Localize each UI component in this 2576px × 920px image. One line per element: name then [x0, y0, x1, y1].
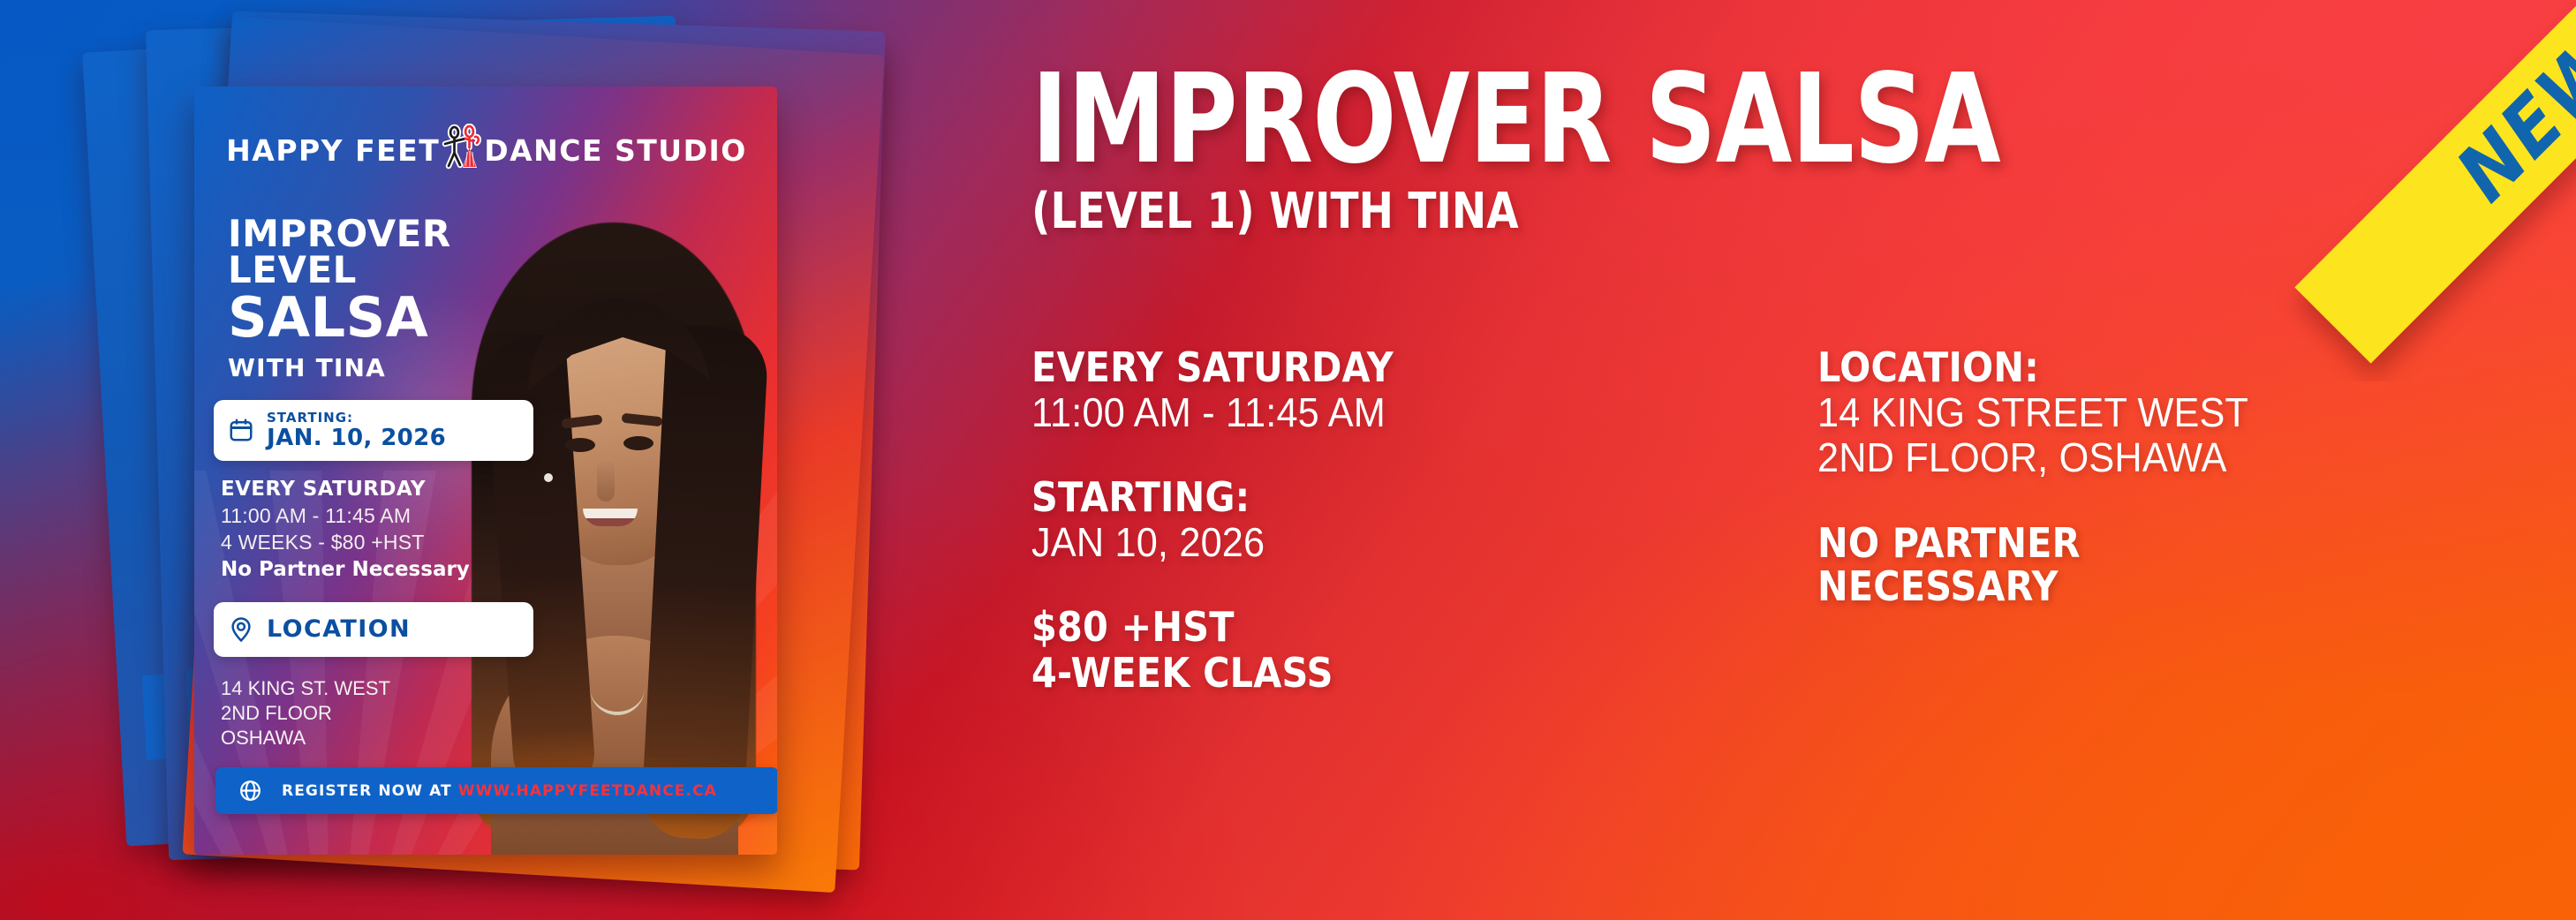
no-partner-group: NO PARTNER NECESSARY: [1817, 522, 2542, 609]
schedule-day-value: 11:00 AM - 11:45 AM: [1031, 390, 1679, 436]
flyer-detail-duration-price: 4 WEEKS - $80 +HST: [221, 530, 486, 556]
flyer-heading-salsa: SALSA: [228, 290, 777, 345]
flyer-address-line3: OSHAWA: [221, 726, 777, 750]
register-bar-text: REGISTER NOW AT WWW.HAPPYFEETDANCE.CA: [282, 782, 717, 800]
schedule-column: EVERY SATURDAY 11:00 AM - 11:45 AM START…: [1031, 346, 1720, 696]
schedule-price-heading: $80 +HST: [1031, 606, 1651, 650]
flyer-detail-time: 11:00 AM - 11:45 AM: [221, 503, 486, 530]
location-group: LOCATION: 14 KING STREET WEST 2ND FLOOR,…: [1817, 346, 2542, 481]
flyer-starting-chip: STARTING: JAN. 10, 2026: [214, 400, 533, 462]
schedule-day-heading: EVERY SATURDAY: [1031, 346, 1651, 390]
flyer-detail-day: EVERY SATURDAY: [221, 477, 486, 502]
location-heading: LOCATION:: [1817, 346, 2469, 390]
schedule-price-subheading: 4-WEEK CLASS: [1031, 650, 1651, 696]
starting-chip-value: JAN. 10, 2026: [267, 426, 446, 451]
flyer-address: 14 KING ST. WEST 2ND FLOOR OSHAWA: [221, 676, 777, 750]
flyer-details: EVERY SATURDAY 11:00 AM - 11:45 AM 4 WEE…: [221, 477, 486, 583]
schedule-group-day: EVERY SATURDAY 11:00 AM - 11:45 AM: [1031, 346, 1720, 435]
flyer-address-line1: 14 KING ST. WEST: [221, 676, 777, 701]
starting-chip-label: STARTING:: [267, 411, 446, 426]
studio-logo-left: HAPPY FEET: [226, 136, 440, 165]
flyer-heading-line2: LEVEL: [228, 252, 777, 288]
dancing-couple-icon: [438, 124, 486, 177]
globe-icon: [238, 779, 262, 803]
schedule-starting-heading: STARTING:: [1031, 476, 1651, 520]
page-title: IMPROVER SALSA: [1031, 58, 2000, 182]
page-subtitle: (LEVEL 1) WITH TINA: [1031, 187, 1519, 237]
schedule-starting-value: JAN 10, 2026: [1031, 520, 1679, 566]
studio-logo-right: DANCE STUDIO: [484, 136, 747, 165]
location-chip-label: LOCATION: [267, 616, 411, 643]
flyer-content: HAPPY FEET: [194, 87, 777, 855]
no-partner-line2: NECESSARY: [1817, 565, 2469, 609]
location-address-line2: 2ND FLOOR, OSHAWA: [1817, 435, 2498, 481]
register-bar-prefix: REGISTER NOW AT: [282, 782, 452, 800]
flyer-detail-partner: No Partner Necessary: [221, 556, 486, 583]
location-column: LOCATION: 14 KING STREET WEST 2ND FLOOR,…: [1817, 346, 2542, 650]
location-address-line1: 14 KING STREET WEST: [1817, 390, 2498, 436]
promo-banner: NEW!: [0, 0, 2576, 920]
studio-logo: HAPPY FEET: [221, 124, 752, 177]
flyer-heading-line1: IMPROVER: [228, 215, 777, 252]
flyer-heading-with-tina: WITH TINA: [228, 353, 777, 382]
schedule-group-price: $80 +HST 4-WEEK CLASS: [1031, 606, 1720, 696]
flyer-heading: IMPROVER LEVEL SALSA WITH TINA: [228, 215, 777, 382]
map-pin-icon: [228, 616, 254, 643]
no-partner-line1: NO PARTNER: [1817, 522, 2469, 566]
flyer-register-bar[interactable]: REGISTER NOW AT WWW.HAPPYFEETDANCE.CA: [215, 767, 777, 814]
flyer-location-chip: LOCATION: [214, 602, 533, 657]
class-flyer: HAPPY FEET: [194, 87, 777, 855]
flyer-stack: HAPPY FEET: [131, 16, 837, 908]
flyer-address-line2: 2ND FLOOR: [221, 701, 777, 726]
schedule-group-starting: STARTING: JAN 10, 2026: [1031, 476, 1720, 565]
calendar-icon: [228, 417, 254, 443]
register-bar-url: WWW.HAPPYFEETDANCE.CA: [458, 782, 717, 800]
banner-main-content: IMPROVER SALSA (LEVEL 1) WITH TINA EVERY…: [1031, 0, 2576, 920]
